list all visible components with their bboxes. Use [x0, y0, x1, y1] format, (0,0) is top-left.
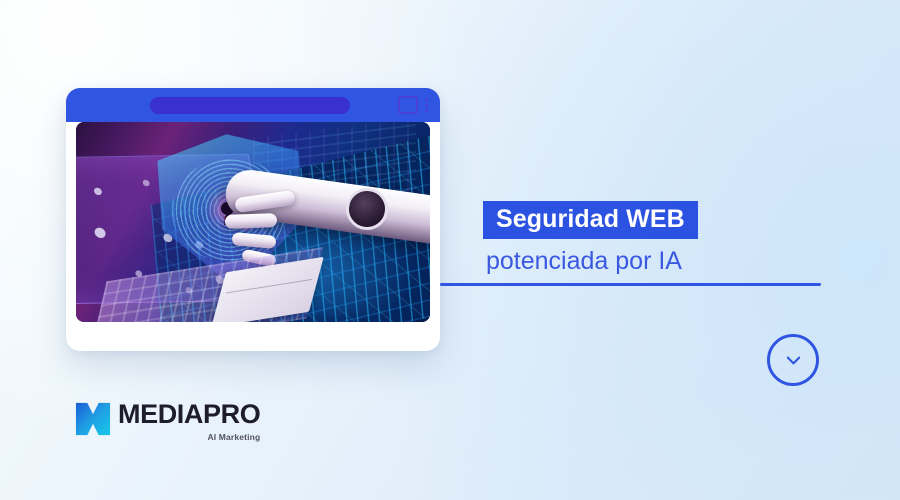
robot-finger	[224, 213, 276, 229]
logo-wordmark: MEDIAPRO	[118, 401, 260, 428]
promo-banner: Seguridad WEB potenciada por IA MEDIAPRO…	[0, 0, 900, 500]
browser-viewport	[76, 122, 430, 322]
address-bar-input[interactable]	[150, 97, 350, 114]
brand-logo[interactable]: MEDIAPRO AI Marketing	[74, 401, 260, 442]
logo-text-block: MEDIAPRO AI Marketing	[118, 401, 260, 442]
scroll-down-button[interactable]	[767, 334, 819, 386]
more-vertical-dots-icon[interactable]	[425, 99, 428, 112]
chevron-down-icon	[785, 352, 802, 369]
cybersecurity-hero-image	[76, 122, 430, 322]
browser-top-bar	[66, 88, 440, 122]
headline-divider	[440, 283, 821, 286]
page-title: Seguridad WEB	[483, 201, 698, 239]
logo-tagline: AI Marketing	[208, 432, 261, 442]
headline-block: Seguridad WEB potenciada por IA	[483, 201, 823, 275]
browser-window-controls	[398, 96, 428, 114]
window-square-icon[interactable]	[398, 96, 418, 114]
mediapro-m-mark-icon	[74, 401, 112, 437]
browser-window-mockup	[66, 88, 440, 351]
page-subtitle: potenciada por IA	[483, 248, 823, 275]
